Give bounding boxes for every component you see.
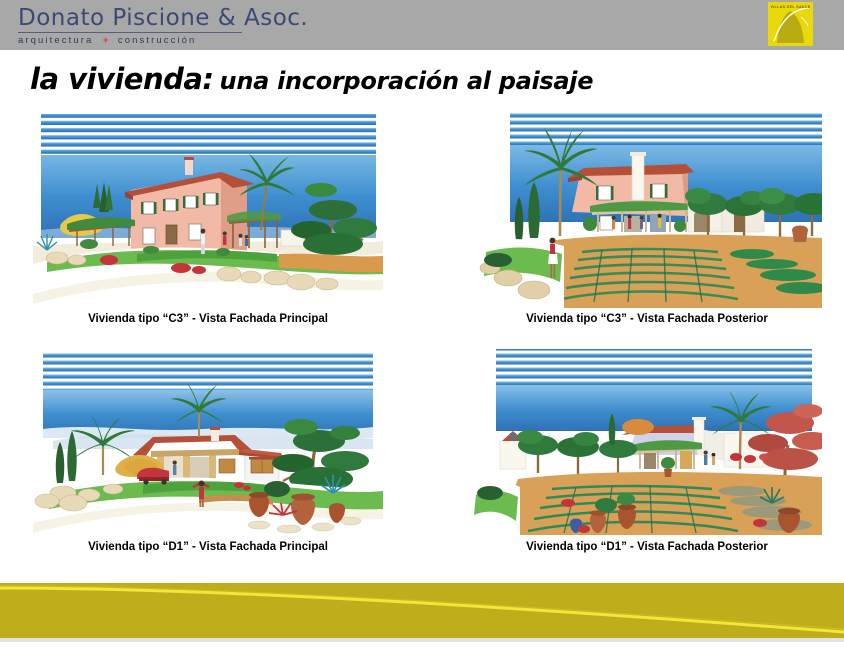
render-image-d1-principal: [33, 345, 383, 535]
page-title-main: la vivienda:: [30, 62, 214, 96]
footer-band: [0, 583, 844, 638]
illustration-d1-principal: [33, 345, 383, 535]
brand-subtitle: arquitectura + construcción: [18, 35, 438, 46]
brand-name: Donato Piscione & Asoc.: [18, 6, 438, 30]
caption-c3-principal: Vivienda tipo “C3” - Vista Fachada Princ…: [33, 313, 383, 325]
caption-d1-principal: Vivienda tipo “D1” - Vista Fachada Princ…: [33, 541, 383, 553]
footer-shadow: [0, 638, 844, 642]
page-title: la vivienda:una incorporación al paisaje: [30, 62, 593, 96]
brand-subtitle-left: arquitectura: [18, 35, 93, 46]
brand-divider: [18, 32, 242, 33]
render-c3-principal[interactable]: [33, 112, 383, 308]
brand-subtitle-right: construcción: [118, 35, 197, 46]
illustration-d1-posterior: [472, 345, 822, 535]
render-image-c3-posterior: [472, 112, 822, 308]
logo-caption: VILLAS DEL SAUCE: [768, 5, 813, 9]
illustration-c3-posterior: [472, 112, 822, 308]
footer-swoosh-graphic: [0, 583, 844, 638]
caption-c3-posterior: Vivienda tipo “C3” - Vista Fachada Poste…: [472, 313, 822, 325]
brand-block: Donato Piscione & Asoc. arquitectura + c…: [18, 6, 438, 46]
illustration-c3-principal: [33, 112, 383, 308]
render-image-d1-posterior: [472, 345, 822, 535]
page-title-subtitle: una incorporación al paisaje: [220, 67, 594, 95]
villas-del-sauce-logo[interactable]: VILLAS DEL SAUCE: [768, 2, 813, 46]
render-d1-principal[interactable]: [33, 345, 383, 535]
render-image-c3-principal: [33, 112, 383, 308]
render-d1-posterior[interactable]: [472, 345, 822, 535]
brand-subtitle-plus: +: [103, 35, 109, 46]
render-c3-posterior[interactable]: [472, 112, 822, 308]
caption-d1-posterior: Vivienda tipo “D1” - Vista Fachada Poste…: [472, 541, 822, 553]
